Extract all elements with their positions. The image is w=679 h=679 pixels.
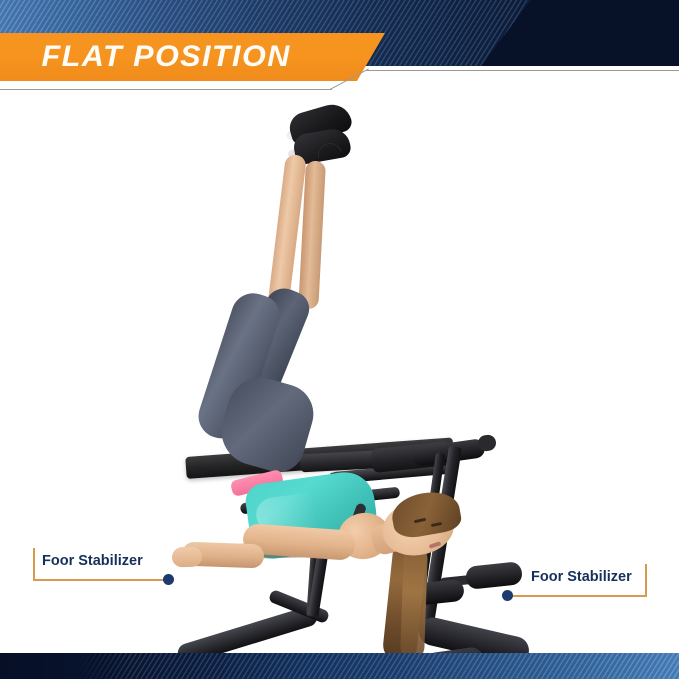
header-divider-right [366, 70, 679, 71]
hand [172, 546, 203, 567]
callout-bracket-horizontal-left [33, 579, 167, 581]
callout-bracket-vertical-left [33, 548, 35, 581]
header-divider-left [0, 89, 332, 90]
callout-bracket-horizontal-right [512, 595, 647, 597]
callout-bracket-vertical-right [645, 564, 647, 597]
title-banner: FLAT POSITION [0, 33, 385, 81]
bottom-band-solid-left [0, 653, 130, 679]
flat-position-instruction-card: FLAT POSITION [0, 0, 679, 679]
callout-dot-left [163, 574, 174, 585]
callout-dot-right [502, 590, 513, 601]
hair-ponytail-strand [400, 547, 428, 660]
header-divider-diagonal [330, 69, 370, 90]
callout-label-right: Foor Stabilizer [531, 569, 632, 585]
page-title: FLAT POSITION [42, 42, 291, 72]
callout-label-left: Foor Stabilizer [42, 553, 143, 569]
bottom-decorative-band [0, 653, 679, 679]
